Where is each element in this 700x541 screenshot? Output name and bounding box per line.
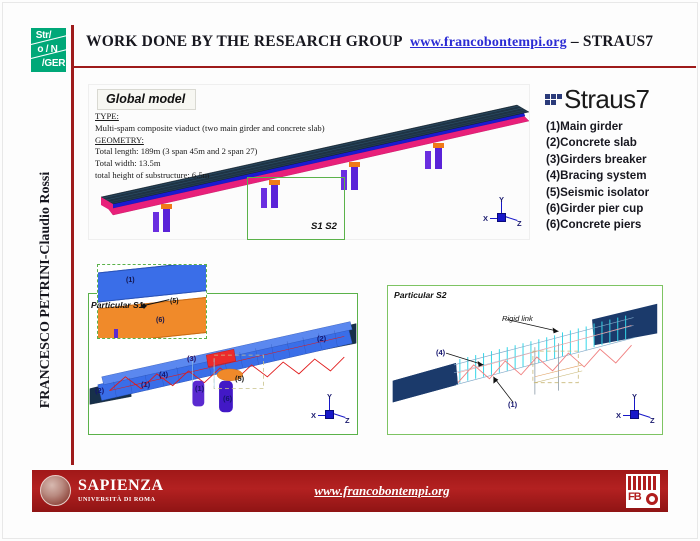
- title-link[interactable]: www.francobontempi.org: [410, 35, 567, 50]
- left-vertical-rule: [71, 25, 74, 465]
- author-sidebar-text: FRANCESCO PETRINI-Claudio Rossi: [38, 140, 54, 440]
- page-title: WORK DONE BY THE RESEARCH GROUP www.fran…: [86, 33, 653, 51]
- s1-callout-2a: (2): [95, 386, 104, 395]
- legend-item-3: (3)Girders breaker: [546, 152, 649, 168]
- s1-callout-6: (6): [223, 394, 232, 403]
- inset-girder-block: [97, 264, 207, 303]
- legend-list: (1)Main girder (2)Concrete slab (3)Girde…: [546, 119, 649, 234]
- axis-triad-global: Y X Z: [483, 197, 525, 235]
- inset-label-1: (1): [126, 277, 135, 284]
- axis-label-x: X: [616, 411, 621, 420]
- particular-s1-label: Particular S1: [91, 300, 144, 310]
- strogen-logo: Str/ o / N /GER: [31, 28, 66, 72]
- fb-logo-circle: [646, 493, 658, 505]
- fb-logo-bars: [628, 476, 658, 490]
- logo-line-2: o / N: [30, 45, 65, 55]
- slide-canvas: Str/ o / N /GER WORK DONE BY THE RESEARC…: [0, 0, 700, 541]
- inset-label-5: (5): [170, 298, 179, 305]
- particular-s2-label: Particular S2: [394, 290, 447, 300]
- fb-logo-text: FB: [628, 491, 641, 503]
- axis-origin-cube: [325, 410, 334, 419]
- axis-z-line: [333, 413, 346, 418]
- s1-callout-1b: (1): [195, 384, 204, 393]
- axis-label-y: Y: [499, 195, 504, 204]
- axis-label-z: Z: [517, 219, 522, 228]
- straus7-grid-icon: [545, 93, 563, 110]
- selection-region-label: S1 S2: [311, 221, 337, 232]
- type-value: Multi-spam composite viaduct (two main g…: [95, 123, 325, 135]
- legend-item-5: (5)Seismic isolator: [546, 185, 649, 201]
- particular-s2-panel: Particular S2: [387, 285, 663, 435]
- s1-callout-1a: (1): [141, 380, 150, 389]
- legend-item-7: (6)Concrete piers: [546, 217, 649, 233]
- axis-label-y: Y: [632, 392, 637, 401]
- global-model-title: Global model: [97, 89, 196, 110]
- geometry-line-0: Total length: 189m (3 span 45m and 2 spa…: [95, 146, 325, 158]
- straus7-wordmark: Straus7: [564, 84, 649, 114]
- university-name: SAPIENZA: [78, 478, 164, 494]
- s1-callout-3: (3): [187, 354, 196, 363]
- global-model-description: TYPE: Multi-spam composite viaduct (two …: [95, 111, 325, 182]
- axis-label-z: Z: [650, 416, 655, 425]
- sapienza-seal-icon: [40, 475, 71, 506]
- francobontempi-logo: FB: [626, 474, 660, 508]
- global-model-panel: Global model TYPE: Multi-spam composite …: [88, 84, 530, 240]
- particular-s1-panel: Particular S1: [88, 293, 358, 435]
- sapienza-wordmark: SAPIENZA UNIVERSITÀ DI ROMA: [78, 478, 164, 503]
- title-prefix: WORK DONE BY THE RESEARCH GROUP: [86, 33, 402, 50]
- header-divider: [72, 66, 696, 68]
- axis-triad-s1: Y X Z: [311, 394, 353, 432]
- axis-origin-cube: [497, 213, 506, 222]
- s2-annotation-rigid-link: Rigid link: [502, 314, 533, 323]
- axis-z-line: [638, 413, 651, 418]
- axis-z-line: [505, 216, 518, 221]
- logo-line-3: /GER: [36, 59, 71, 69]
- s1-callout-2b: (2): [317, 334, 326, 343]
- axis-triad-s2: Y X Z: [616, 394, 658, 432]
- axis-label-x: X: [483, 214, 488, 223]
- axis-label-z: Z: [345, 416, 350, 425]
- logo-line-1: Str/: [26, 31, 61, 41]
- s1-callout-4: (4): [159, 370, 168, 379]
- geometry-line-1: Total width: 13.5m: [95, 158, 325, 170]
- title-suffix: – STRAUS7: [571, 33, 653, 50]
- type-label: TYPE:: [95, 111, 325, 123]
- s1-callout-5: (5): [235, 374, 244, 383]
- inset-pier-stub: [114, 329, 118, 339]
- footer-url-link[interactable]: www.francobontempi.org: [272, 483, 492, 499]
- s2-callout-4: (4): [436, 348, 445, 357]
- inset-label-6: (6): [156, 317, 165, 324]
- slide-footer: SAPIENZA UNIVERSITÀ DI ROMA www.francobo…: [32, 470, 668, 512]
- legend-item-4: (4)Bracing system: [546, 168, 649, 184]
- university-subtitle: UNIVERSITÀ DI ROMA: [78, 496, 164, 503]
- legend-item-2: (2)Concrete slab: [546, 135, 649, 151]
- axis-origin-cube: [630, 410, 639, 419]
- axis-label-x: X: [311, 411, 316, 420]
- geometry-label: GEOMETRY:: [95, 135, 325, 147]
- s2-callout-1: (1): [508, 400, 517, 409]
- axis-label-y: Y: [327, 392, 332, 401]
- straus7-logo: Straus7: [545, 84, 649, 115]
- legend-item-1: (1)Main girder: [546, 119, 649, 135]
- legend-item-6: (6)Girder pier cup: [546, 201, 649, 217]
